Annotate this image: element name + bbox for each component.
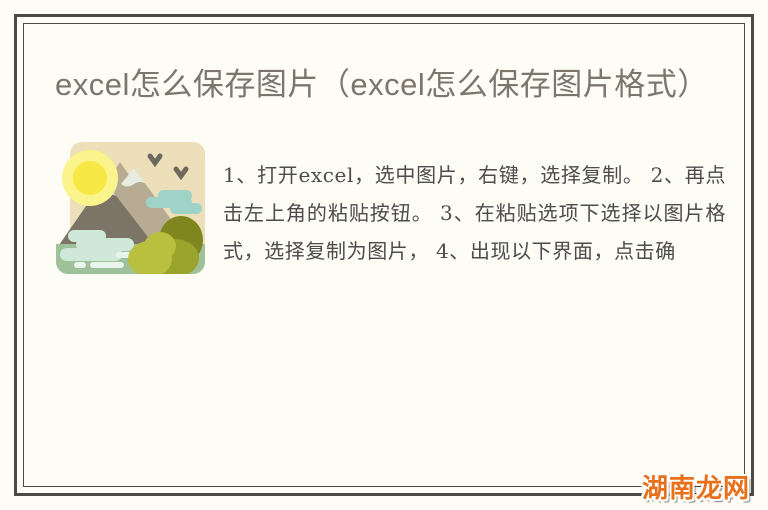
- article-body: 1、打开excel，选中图片，右键，选择复制。 2、再点击左上角的粘贴按钮。 3…: [40, 108, 730, 290]
- article-content: excel怎么保存图片（excel怎么保存图片格式）: [40, 40, 730, 470]
- page-title: excel怎么保存图片（excel怎么保存图片格式）: [40, 40, 730, 108]
- site-watermark: 湖南龙网: [642, 476, 750, 502]
- landscape-illustration-icon: [54, 140, 207, 276]
- article-summary: 1、打开excel，选中图片，右键，选择复制。 2、再点击左上角的粘贴按钮。 3…: [223, 156, 730, 270]
- page-root: excel怎么保存图片（excel怎么保存图片格式）: [0, 0, 768, 510]
